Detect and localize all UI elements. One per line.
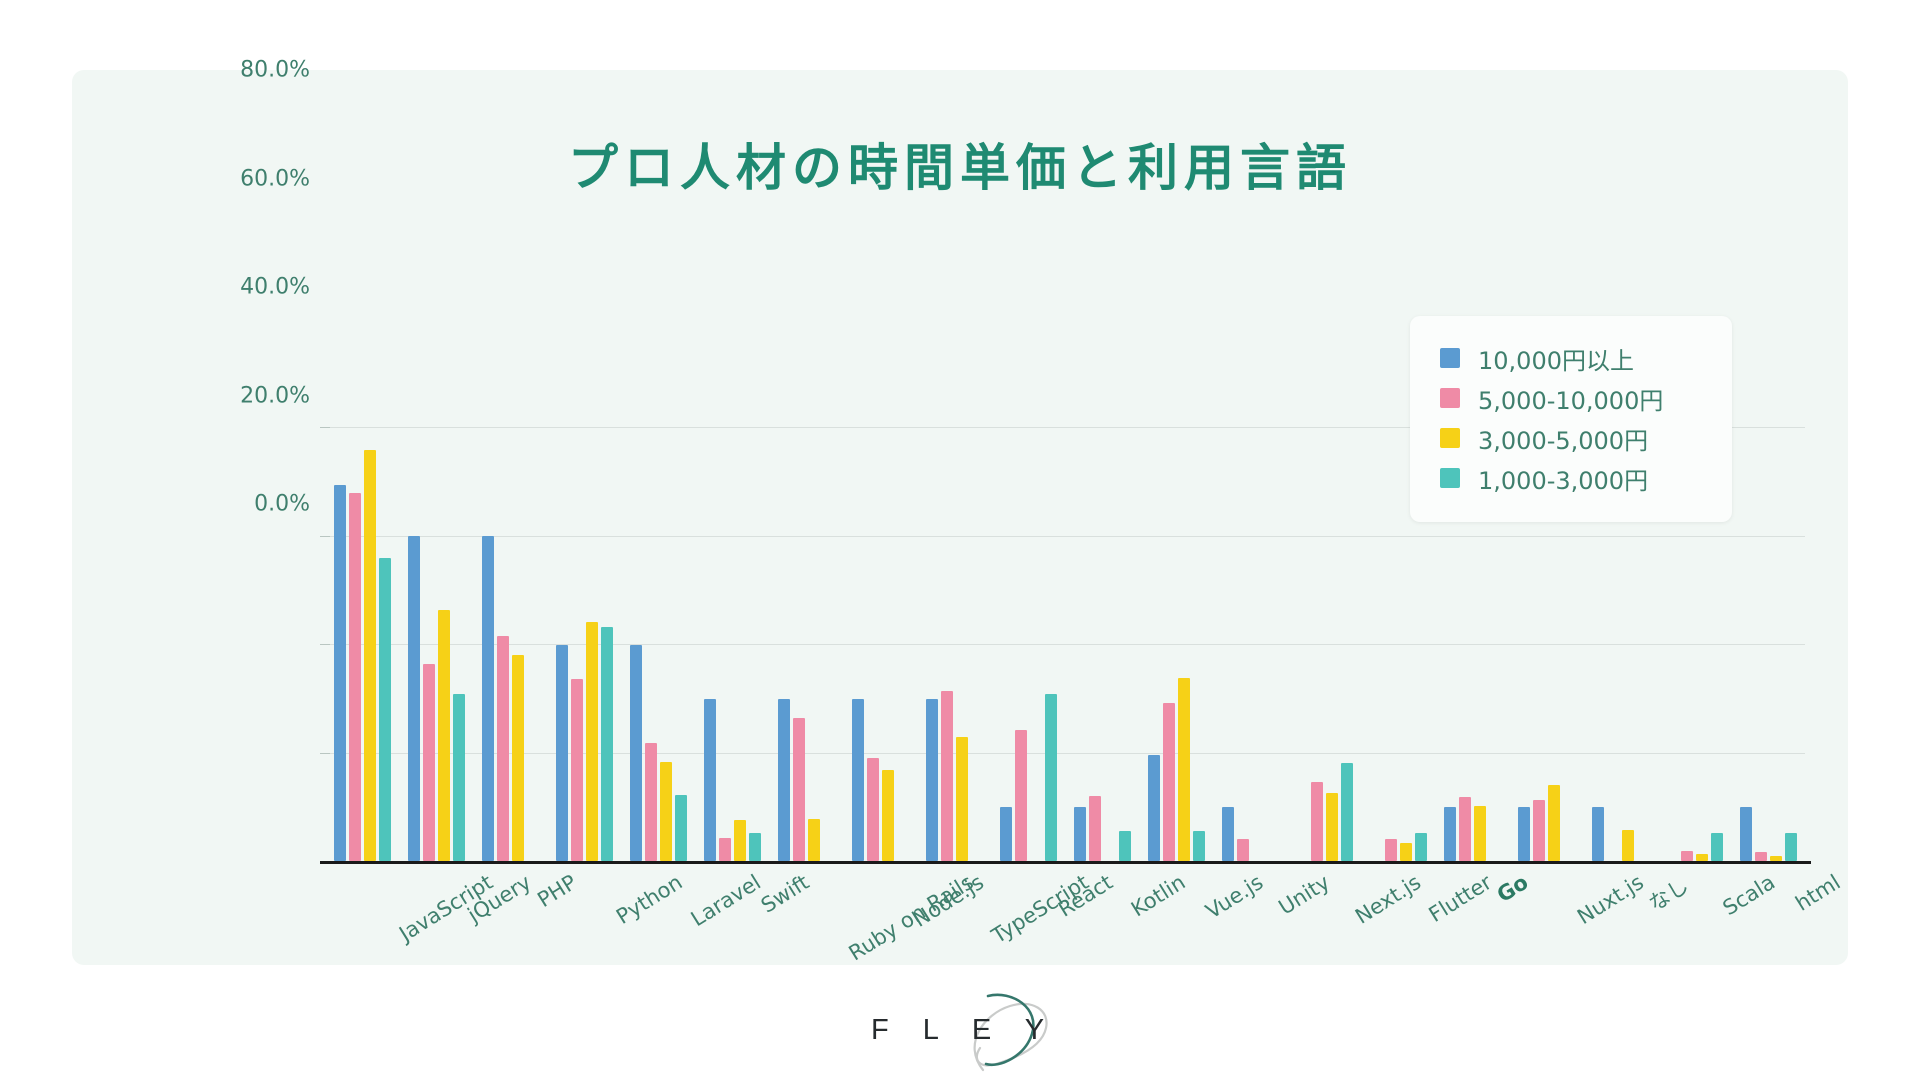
bar[interactable]: [1222, 807, 1234, 861]
y-axis: 0.0%20.0%40.0%60.0%80.0%: [182, 70, 310, 965]
bar[interactable]: [852, 699, 864, 861]
bar[interactable]: [734, 820, 746, 861]
bar[interactable]: [1681, 851, 1693, 861]
bar[interactable]: [704, 699, 716, 861]
bar[interactable]: [1740, 807, 1752, 861]
bar[interactable]: [660, 762, 672, 861]
bar[interactable]: [1622, 830, 1634, 861]
bar[interactable]: [1785, 833, 1797, 861]
legend-item-label: 10,000円以上: [1478, 341, 1634, 376]
x-axis-label: html: [1791, 870, 1844, 916]
bar-group[interactable]: [1731, 427, 1805, 861]
bar-group[interactable]: [400, 427, 474, 861]
bar[interactable]: [512, 655, 524, 861]
bar[interactable]: [1178, 678, 1190, 861]
x-axis-label: Laravel: [687, 870, 765, 931]
bar[interactable]: [423, 664, 435, 861]
legend[interactable]: 10,000円以上5,000-10,000円3,000-5,000円1,000-…: [1410, 316, 1732, 522]
bar[interactable]: [749, 833, 761, 861]
bar[interactable]: [956, 737, 968, 861]
bar[interactable]: [1074, 807, 1086, 861]
x-axis-label: PHP: [533, 870, 581, 912]
x-axis-label: Unity: [1275, 870, 1335, 920]
legend-item[interactable]: 5,000-10,000円: [1440, 378, 1706, 418]
x-axis-label: Kotlin: [1127, 870, 1190, 922]
bar-group[interactable]: [548, 427, 622, 861]
bar[interactable]: [1533, 800, 1545, 861]
x-axis-label: Vue.js: [1202, 870, 1268, 924]
bar[interactable]: [1474, 806, 1486, 861]
bar-group[interactable]: [918, 427, 992, 861]
bar-group[interactable]: [474, 427, 548, 861]
bar[interactable]: [482, 536, 494, 861]
bar[interactable]: [1755, 852, 1767, 861]
bar-group[interactable]: [622, 427, 696, 861]
x-axis-label: Python: [612, 870, 686, 929]
bar[interactable]: [1045, 694, 1057, 861]
bar[interactable]: [334, 485, 346, 861]
y-axis-tick-label: 0.0%: [254, 492, 310, 517]
y-axis-tick-label: 60.0%: [240, 166, 310, 191]
legend-color-swatch: [1440, 348, 1460, 368]
x-axis-label: Scala: [1719, 870, 1780, 920]
bar[interactable]: [1385, 839, 1397, 861]
y-axis-tick-label: 80.0%: [240, 58, 310, 83]
bar[interactable]: [1237, 839, 1249, 861]
bar[interactable]: [1193, 831, 1205, 861]
bar[interactable]: [1000, 807, 1012, 861]
legend-item-label: 5,000-10,000円: [1478, 381, 1663, 416]
bar[interactable]: [1326, 793, 1338, 861]
bar[interactable]: [601, 627, 613, 861]
legend-color-swatch: [1440, 468, 1460, 488]
bar[interactable]: [1341, 763, 1353, 861]
bar[interactable]: [778, 699, 790, 861]
bar[interactable]: [497, 636, 509, 861]
x-axis-label: Swift: [757, 870, 813, 918]
bar[interactable]: [1148, 755, 1160, 861]
footer-logo: F L E Y: [0, 985, 1920, 1075]
y-axis-tick-label: 40.0%: [240, 275, 310, 300]
bar-group[interactable]: [696, 427, 770, 861]
legend-item-label: 1,000-3,000円: [1478, 461, 1648, 496]
bar[interactable]: [1592, 807, 1604, 861]
bar[interactable]: [1415, 833, 1427, 861]
bar[interactable]: [453, 694, 465, 861]
bar-group[interactable]: [1139, 427, 1213, 861]
bar[interactable]: [349, 493, 361, 861]
y-axis-tick-label: 20.0%: [240, 383, 310, 408]
brand-wordmark: F L E Y: [863, 1014, 1057, 1047]
x-axis-label: Next.js: [1351, 870, 1425, 929]
bar[interactable]: [867, 758, 879, 861]
bar[interactable]: [556, 645, 568, 861]
bar[interactable]: [438, 610, 450, 861]
x-axis-label: なし: [1643, 870, 1695, 918]
bar[interactable]: [1711, 833, 1723, 861]
x-axis-label: Nuxt.js: [1573, 870, 1648, 929]
bar[interactable]: [645, 743, 657, 861]
legend-color-swatch: [1440, 388, 1460, 408]
bar[interactable]: [1548, 785, 1560, 861]
bar[interactable]: [793, 718, 805, 861]
chart-page: プロ人材の時間単価と利用言語 0.0%20.0%40.0%60.0%80.0% …: [0, 0, 1920, 1080]
legend-item[interactable]: 10,000円以上: [1440, 338, 1706, 378]
bar[interactable]: [1163, 703, 1175, 861]
legend-item[interactable]: 3,000-5,000円: [1440, 418, 1706, 458]
bar[interactable]: [364, 450, 376, 861]
bar-group[interactable]: [844, 427, 918, 861]
bar[interactable]: [808, 819, 820, 861]
bar-group[interactable]: [1066, 427, 1140, 861]
bar[interactable]: [630, 645, 642, 861]
bar-group[interactable]: [1287, 427, 1361, 861]
x-axis-label: Flutter: [1425, 870, 1496, 927]
bar[interactable]: [941, 691, 953, 861]
bar[interactable]: [1444, 807, 1456, 861]
bar[interactable]: [1696, 854, 1708, 861]
bar-group[interactable]: [1213, 427, 1287, 861]
chart-card: プロ人材の時間単価と利用言語 0.0%20.0%40.0%60.0%80.0% …: [72, 70, 1848, 965]
x-axis-label: Go: [1493, 870, 1533, 907]
bar[interactable]: [1015, 730, 1027, 861]
bar[interactable]: [379, 558, 391, 861]
bar[interactable]: [882, 770, 894, 861]
bar-group[interactable]: [770, 427, 844, 861]
bar-group[interactable]: [992, 427, 1066, 861]
legend-item[interactable]: 1,000-3,000円: [1440, 458, 1706, 498]
bar[interactable]: [586, 622, 598, 861]
bar[interactable]: [1459, 797, 1471, 861]
bar[interactable]: [926, 699, 938, 861]
page-title: プロ人材の時間単価と利用言語: [72, 128, 1848, 200]
x-axis-line: [320, 861, 1811, 864]
bar[interactable]: [408, 536, 420, 861]
bar[interactable]: [1311, 782, 1323, 861]
legend-item-label: 3,000-5,000円: [1478, 421, 1648, 456]
bar[interactable]: [571, 679, 583, 861]
bar[interactable]: [1518, 807, 1530, 861]
bar[interactable]: [1089, 796, 1101, 861]
bar-group[interactable]: [326, 427, 400, 861]
bar[interactable]: [719, 838, 731, 861]
bar[interactable]: [675, 795, 687, 861]
bar[interactable]: [1119, 831, 1131, 861]
bar[interactable]: [1400, 843, 1412, 861]
legend-color-swatch: [1440, 428, 1460, 448]
